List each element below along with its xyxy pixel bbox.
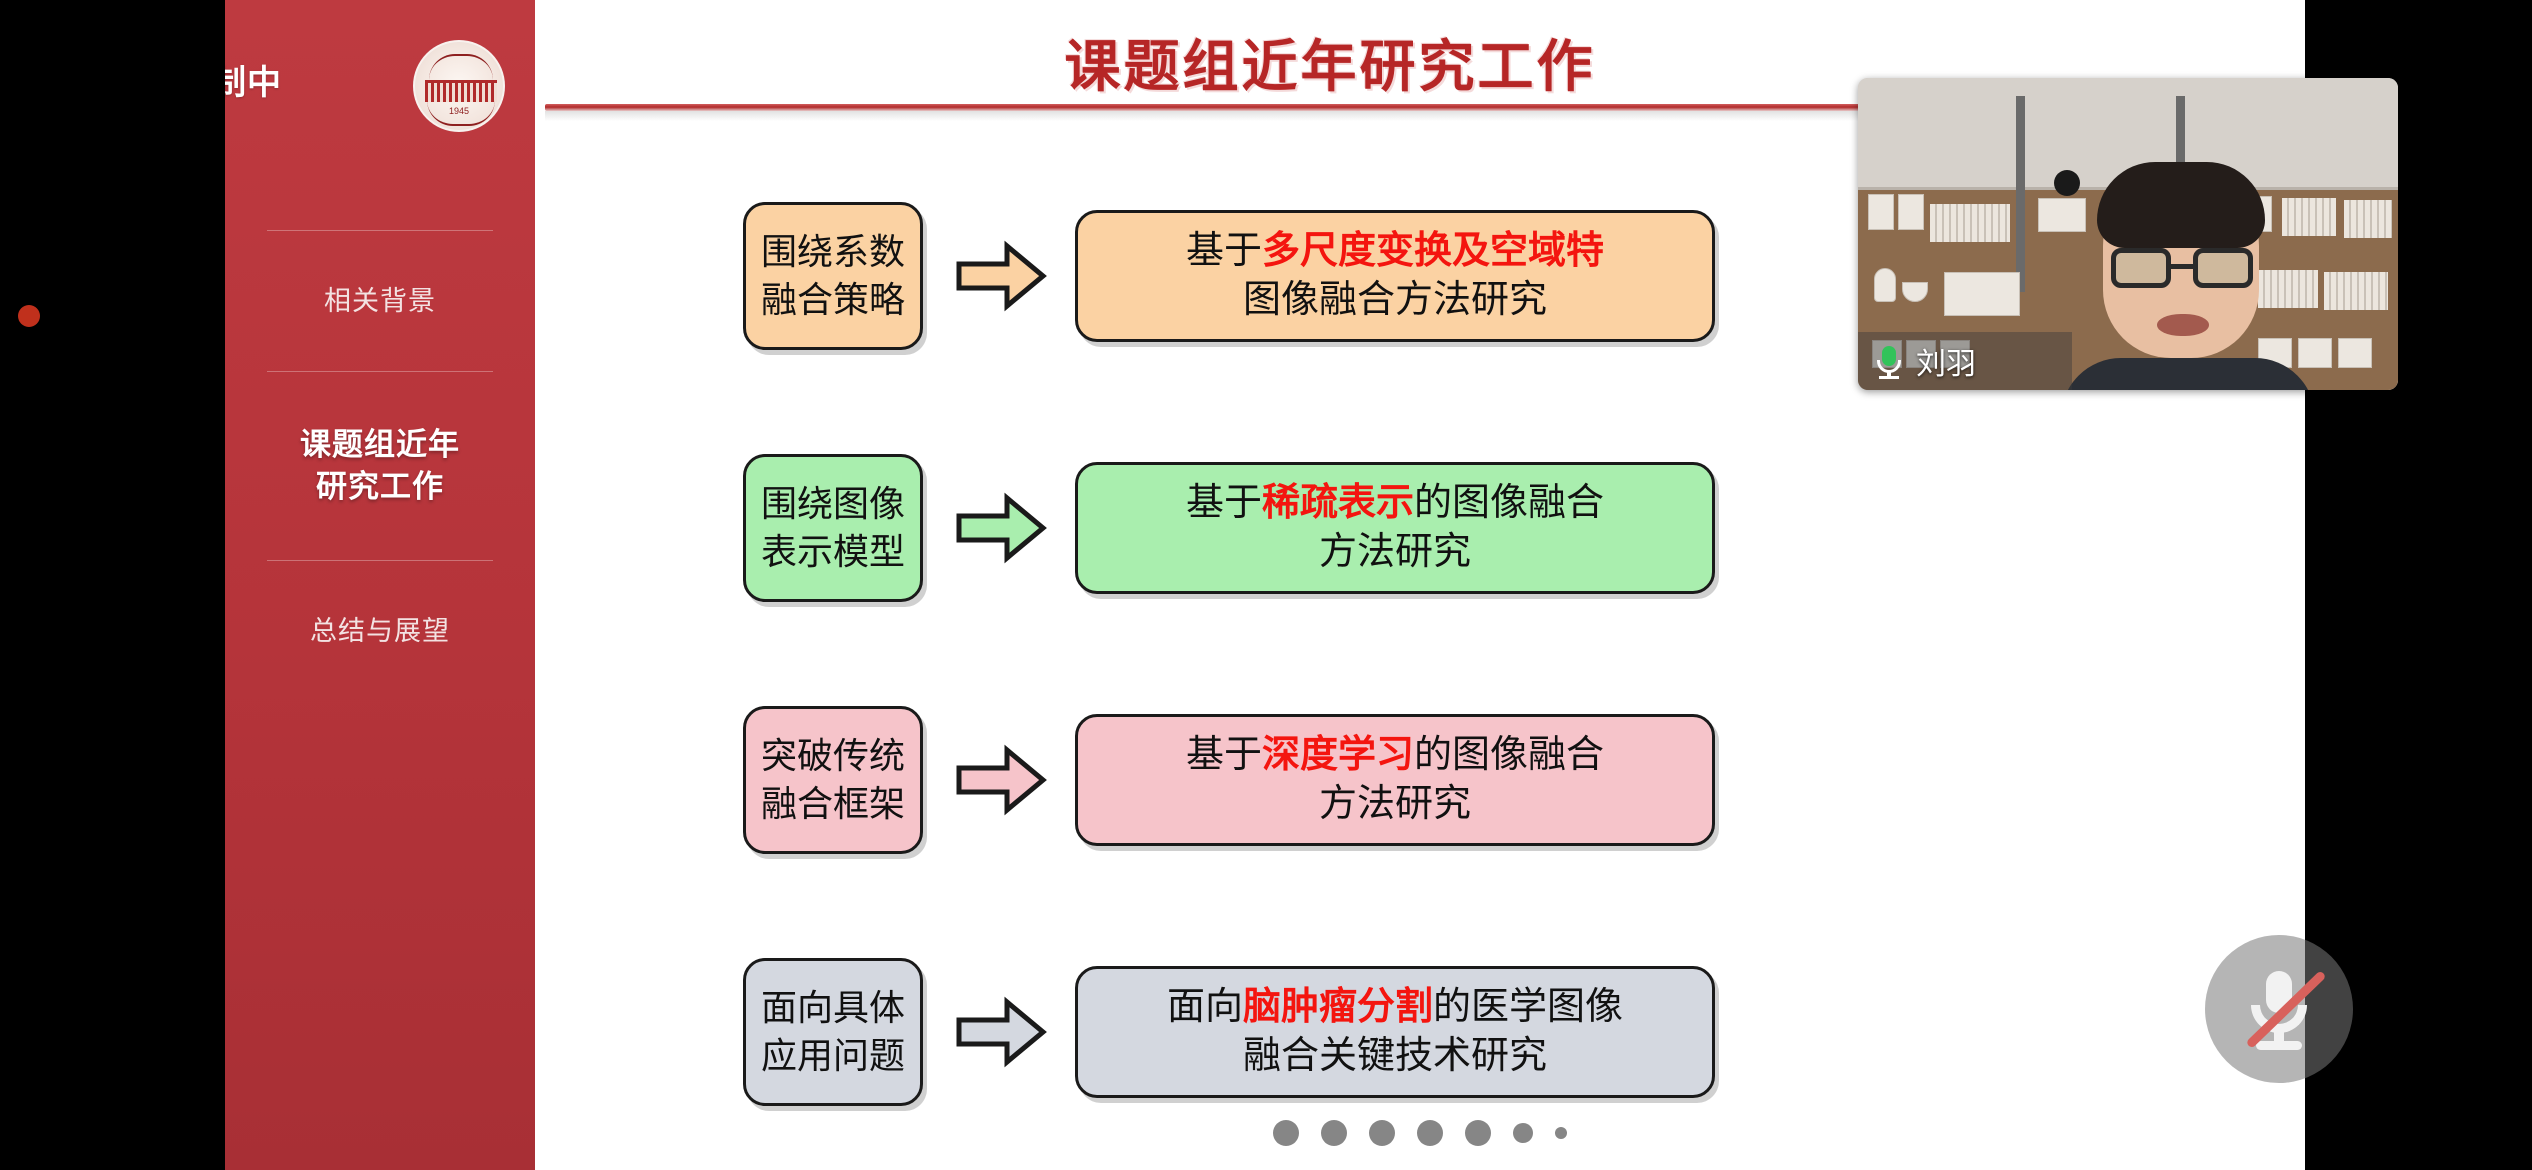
row-right-line1: 基于深度学习的图像融合 [1186, 731, 1604, 780]
row-right-suffix: 的图像融合 [1414, 482, 1604, 524]
row-right-suffix: 的图像融合 [1414, 734, 1604, 776]
mute-toggle-button[interactable] [2205, 935, 2353, 1083]
row-right-box: 面向脑肿瘤分割的医学图像 融合关键技术研究 [1075, 966, 1715, 1098]
sidebar-item-label-line2: 研究工作 [235, 466, 525, 508]
sidebar-item-summary-outlook[interactable]: 总结与展望 [225, 561, 535, 701]
row-right-prefix: 面向 [1167, 986, 1243, 1028]
recording-label: 录制中 [225, 55, 282, 104]
slide-sidebar: 录制中 1945 相关背景 课题组近年 研究工作 总结与展望 [225, 0, 535, 1170]
microphone-active-icon [1872, 344, 1906, 378]
row-right-line2: 图像融合方法研究 [1243, 276, 1547, 325]
pager-dot[interactable] [1555, 1127, 1567, 1139]
row-left-line1: 围绕图像 [761, 480, 905, 528]
row-right-box: 基于深度学习的图像融合 方法研究 [1075, 714, 1715, 846]
diagram-row-image-representation: 围绕图像 表示模型 基于稀疏表示的图像融合 方法研究 [535, 402, 2305, 654]
sidebar-item-background[interactable]: 相关背景 [225, 231, 535, 371]
row-right-line1: 基于多尺度变换及空域特 [1186, 227, 1604, 276]
row-right-line1: 基于稀疏表示的图像融合 [1186, 479, 1604, 528]
row-left-box: 面向具体 应用问题 [743, 958, 923, 1106]
row-left-box: 围绕图像 表示模型 [743, 454, 923, 602]
row-left-line2: 融合策略 [761, 276, 905, 324]
eyeglasses-icon [2111, 248, 2253, 288]
diagram-row-deep-learning: 突破传统 融合框架 基于深度学习的图像融合 方法研究 [535, 654, 2305, 906]
participant-video-tile[interactable]: 刘羽 [1858, 78, 2398, 390]
sidebar-item-label-line1: 课题组近年 [235, 424, 525, 466]
row-left-line1: 围绕系数 [761, 228, 905, 276]
row-right-prefix: 基于 [1186, 734, 1262, 776]
row-left-line1: 突破传统 [761, 732, 905, 780]
red-status-dot-icon [18, 305, 40, 327]
right-arrow-icon [955, 492, 1047, 564]
pager-dot[interactable] [1417, 1120, 1443, 1146]
row-left-line2: 应用问题 [761, 1032, 905, 1080]
slide-nav-list: 相关背景 课题组近年 研究工作 总结与展望 [225, 230, 535, 702]
pager-dot[interactable] [1369, 1120, 1395, 1146]
university-seal-logo: 1945 [413, 40, 505, 132]
row-right-highlight: 脑肿瘤分割 [1243, 986, 1433, 1028]
meeting-screen: 录制中 1945 相关背景 课题组近年 研究工作 总结与展望 课 [0, 0, 2532, 1170]
row-right-box: 基于稀疏表示的图像融合 方法研究 [1075, 462, 1715, 594]
row-left-line2: 表示模型 [761, 528, 905, 576]
seal-year: 1945 [415, 106, 503, 116]
row-left-line2: 融合框架 [761, 780, 905, 828]
row-left-line1: 面向具体 [761, 984, 905, 1032]
row-right-highlight: 深度学习 [1262, 734, 1414, 776]
pager-dot[interactable] [1321, 1120, 1347, 1146]
row-right-highlight: 多尺度变换及空域特 [1262, 230, 1604, 272]
row-right-prefix: 基于 [1186, 482, 1262, 524]
participant-name: 刘羽 [1916, 339, 1976, 383]
participant-avatar [2073, 162, 2303, 390]
sidebar-item-recent-research[interactable]: 课题组近年 研究工作 [225, 372, 535, 560]
pager-dot[interactable] [1273, 1120, 1299, 1146]
row-right-line1: 面向脑肿瘤分割的医学图像 [1167, 983, 1623, 1032]
slide-pager-dots[interactable] [225, 1120, 2305, 1146]
row-right-line2: 融合关键技术研究 [1243, 1032, 1547, 1081]
pager-dot[interactable] [1465, 1120, 1491, 1146]
right-arrow-icon [955, 744, 1047, 816]
right-arrow-icon [955, 240, 1047, 312]
row-right-prefix: 基于 [1186, 230, 1262, 272]
row-right-line2: 方法研究 [1319, 528, 1471, 577]
right-arrow-icon [955, 996, 1047, 1068]
row-right-line2: 方法研究 [1319, 780, 1471, 829]
row-left-box: 围绕系数 融合策略 [743, 202, 923, 350]
microphone-muted-icon [2240, 967, 2318, 1051]
pager-dot[interactable] [1513, 1123, 1533, 1143]
row-right-box: 基于多尺度变换及空域特 图像融合方法研究 [1075, 210, 1715, 342]
row-left-box: 突破传统 融合框架 [743, 706, 923, 854]
row-right-highlight: 稀疏表示 [1262, 482, 1414, 524]
row-right-suffix: 的医学图像 [1433, 986, 1623, 1028]
participant-nameplate: 刘羽 [1858, 332, 2072, 390]
